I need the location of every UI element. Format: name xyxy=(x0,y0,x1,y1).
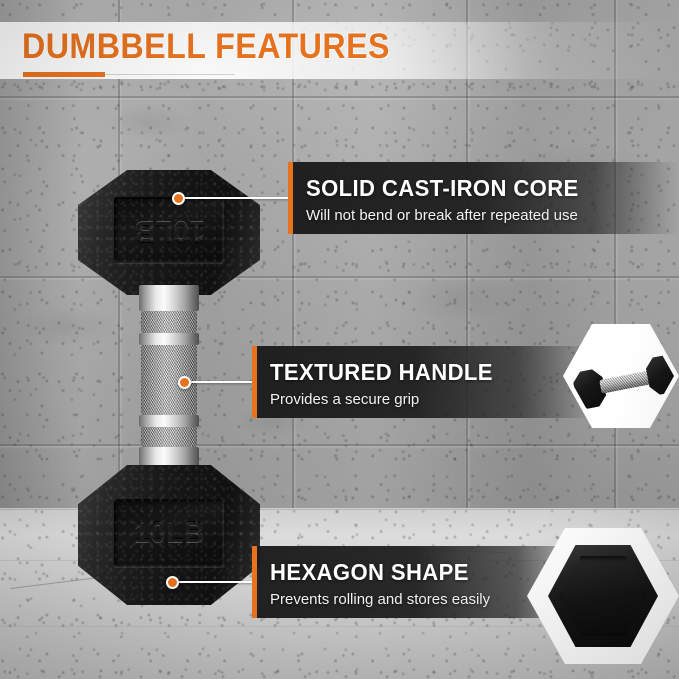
infographic-canvas: DUMBBELL FEATURES 10LB 10LB xyxy=(0,0,679,679)
feature-title: HEXAGON SHAPE xyxy=(270,558,579,586)
feature-title: SOLID CAST-IRON CORE xyxy=(306,174,664,202)
dumbbell-product-image: 10LB 10LB xyxy=(78,170,278,610)
page-title: DUMBBELL FEATURES xyxy=(22,25,390,69)
handle-knurl-band xyxy=(141,311,197,333)
handle-collar xyxy=(139,285,199,311)
dumbbell-chrome-handle xyxy=(134,285,204,475)
inset-handle-closeup-image xyxy=(568,329,674,423)
leader-dot-hexagon xyxy=(166,576,179,589)
feature-subtitle: Will not bend or break after repeated us… xyxy=(306,205,679,227)
feature-subtitle: Provides a secure grip xyxy=(270,389,592,411)
mini-dumbbell-side-view xyxy=(571,353,674,410)
feature-title: TEXTURED HANDLE xyxy=(270,358,579,386)
leader-dot-handle xyxy=(178,376,191,389)
leader-dot-core xyxy=(172,192,185,205)
weight-text-top: 10LB xyxy=(133,214,204,247)
leader-line-handle xyxy=(184,381,254,383)
mini-dumbbell-end-right xyxy=(644,353,674,396)
feature-callout-textured-handle: TEXTURED HANDLE Provides a secure grip xyxy=(252,346,592,418)
hexagon-endcap-shape xyxy=(548,545,658,647)
inset-hexagon-endcap-image xyxy=(532,533,674,659)
handle-knurl-band xyxy=(141,427,197,447)
leader-line-core xyxy=(178,197,290,199)
handle-collar xyxy=(139,415,199,427)
weight-text-bottom: 10LB xyxy=(133,517,204,550)
handle-collar xyxy=(139,333,199,345)
dumbbell-top-weight-plate: 10LB xyxy=(78,170,260,295)
feature-callout-solid-cast-iron-core: SOLID CAST-IRON CORE Will not bend or br… xyxy=(288,162,679,234)
weight-label-panel-top: 10LB xyxy=(114,197,224,263)
mini-dumbbell-knurled-bar xyxy=(599,370,655,394)
leader-line-hexagon xyxy=(172,581,254,583)
title-underline-tail xyxy=(105,74,235,75)
title-underline-accent xyxy=(23,72,105,77)
weight-label-panel-bottom: 10LB xyxy=(114,499,224,567)
